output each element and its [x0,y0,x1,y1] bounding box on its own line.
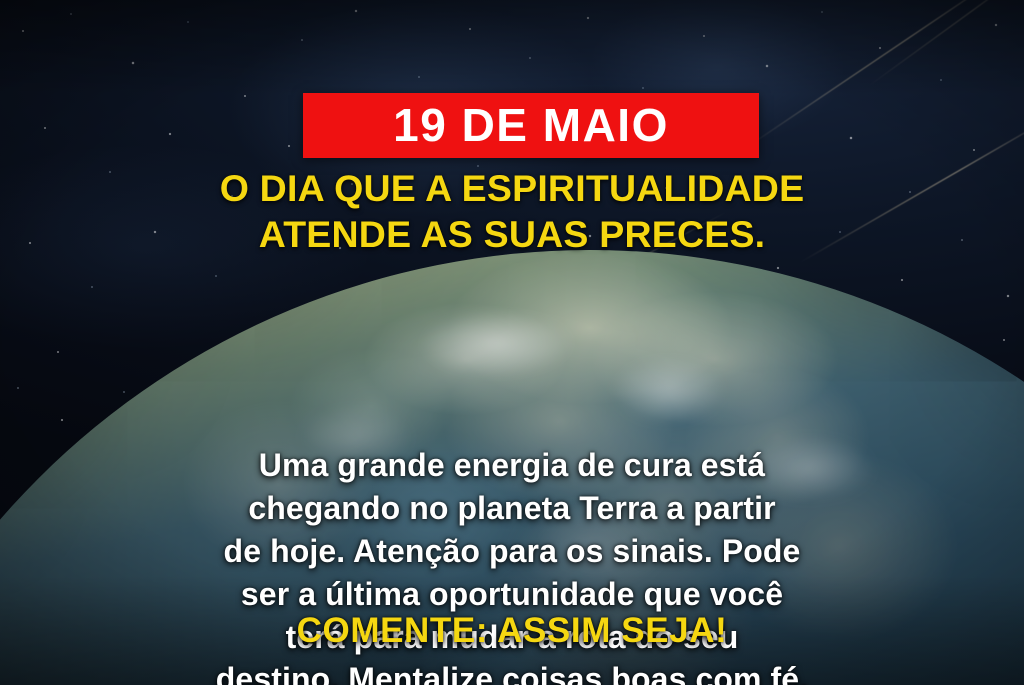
poster-canvas: 19 DE MAIO O DIA QUE A ESPIRITUALIDADE A… [0,0,1024,685]
date-banner-label: 19 DE MAIO [393,102,669,148]
call-to-action-label: COMENTE: ASSIM SEJA! [297,611,728,650]
call-to-action: COMENTE: ASSIM SEJA! [0,612,1024,651]
headline-line-1: O DIA QUE A ESPIRITUALIDADE [40,166,984,212]
poster-content: 19 DE MAIO O DIA QUE A ESPIRITUALIDADE A… [0,0,1024,685]
body-copy-line-4: ser a última oportunidade que você [56,573,968,616]
headline: O DIA QUE A ESPIRITUALIDADE ATENDE AS SU… [0,166,1024,258]
body-copy-line-2: chegando no planeta Terra a partir [56,487,968,530]
body-copy-line-3: de hoje. Atenção para os sinais. Pode [56,530,968,573]
body-copy-line-6: destino. Mentalize coisas boas com fé. [56,658,968,685]
headline-line-2: ATENDE AS SUAS PRECES. [40,212,984,258]
date-banner: 19 DE MAIO [303,93,759,158]
body-copy-line-1: Uma grande energia de cura está [56,444,968,487]
